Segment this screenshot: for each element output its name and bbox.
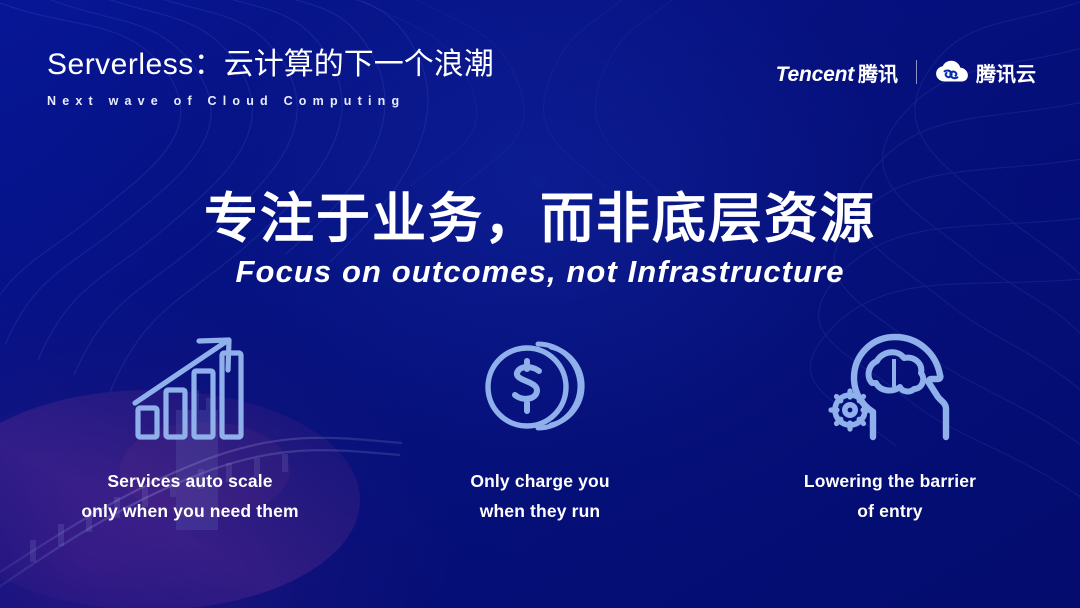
headline-block: 专注于业务，而非底层资源 Focus on outcomes, not Infr…	[0, 190, 1080, 290]
tencent-wordmark-latin: Tencent	[776, 63, 854, 87]
feature-caption-line1: Services auto scale	[107, 471, 272, 491]
brain-head-gear-icon	[828, 331, 952, 443]
tencent-logo: Tencent 腾讯	[776, 58, 898, 87]
tencent-cloud-wordmark-cn: 腾讯云	[976, 58, 1036, 87]
feature-caption-line1: Lowering the barrier	[804, 471, 976, 491]
cloud-icon	[935, 60, 969, 84]
bar-chart-growth-icon	[129, 331, 251, 443]
feature-icon-wrap	[828, 328, 952, 446]
tencent-wordmark-cn: 腾讯	[858, 58, 898, 87]
feature-caption-line2: only when you need them	[81, 496, 298, 526]
feature-caption-line2: of entry	[804, 496, 976, 526]
page-title-cn: 云计算的下一个浪潮	[224, 48, 494, 81]
feature-item-pay-per-run: Only charge you when they run	[410, 328, 670, 526]
page-title-separator: ：	[194, 48, 224, 81]
slide-canvas: Serverless：云计算的下一个浪潮 Next wave of Cloud …	[0, 0, 1080, 608]
page-subtitle: Next wave of Cloud Computing	[47, 94, 1037, 108]
logo-divider	[916, 60, 917, 84]
tencent-cloud-logo: 腾讯云	[935, 58, 1036, 87]
logo-group: Tencent 腾讯 腾讯云	[776, 57, 1036, 87]
feature-icon-wrap	[481, 328, 599, 446]
feature-list: Services auto scale only when you need t…	[0, 328, 1080, 526]
feature-caption: Lowering the barrier of entry	[804, 466, 976, 526]
feature-caption-line2: when they run	[470, 496, 609, 526]
feature-caption-line1: Only charge you	[470, 471, 609, 491]
coins-dollar-icon	[481, 331, 599, 443]
headline-cn: 专注于业务，而非底层资源	[0, 190, 1080, 248]
page-title-latin: Serverless	[47, 48, 194, 81]
feature-item-lower-barrier: Lowering the barrier of entry	[760, 328, 1020, 526]
feature-item-auto-scale: Services auto scale only when you need t…	[60, 328, 320, 526]
feature-caption: Only charge you when they run	[470, 466, 609, 526]
headline-en: Focus on outcomes, not Infrastructure	[0, 254, 1080, 290]
feature-icon-wrap	[129, 328, 251, 446]
feature-caption: Services auto scale only when you need t…	[81, 466, 298, 526]
